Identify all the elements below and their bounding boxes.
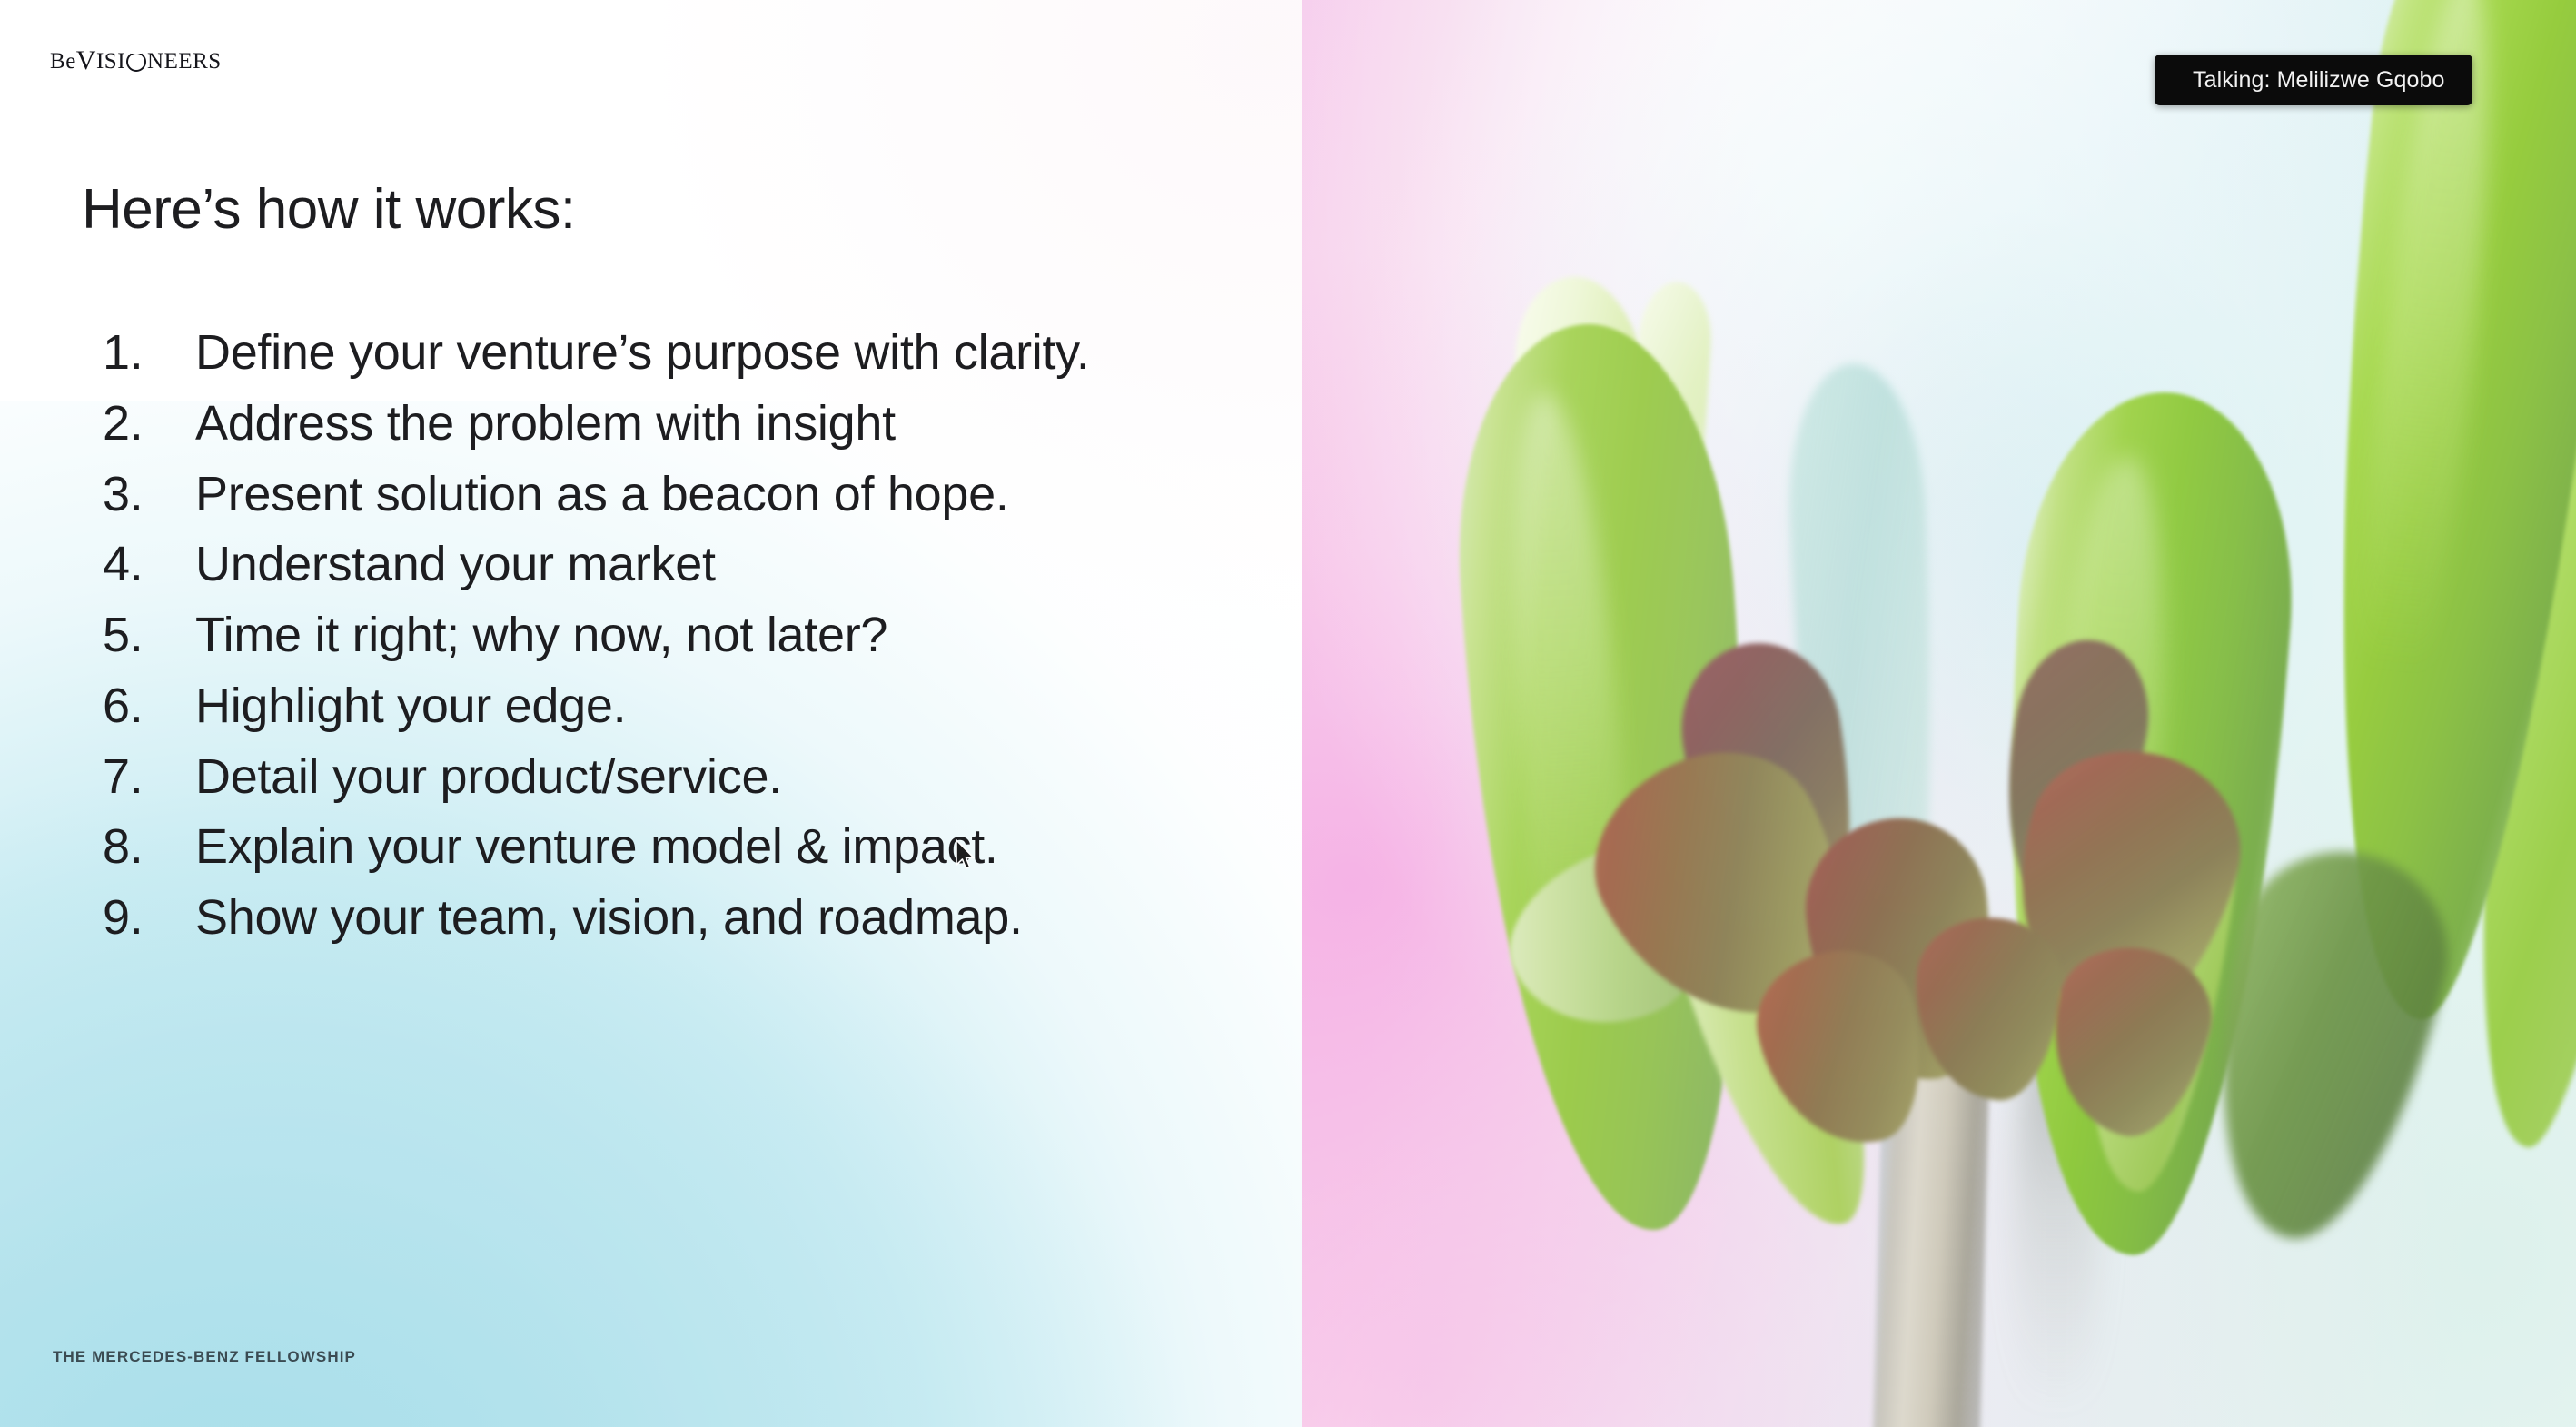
list-item-text: Define your venture’s purpose with clari… [195, 318, 1158, 389]
list-item: 4. Understand your market [95, 530, 1240, 600]
logo-text-v: V [76, 47, 96, 74]
logo-text-be: B [50, 50, 65, 73]
logo-text-e: e [65, 50, 76, 73]
list-item-text: Understand your market [195, 530, 1158, 600]
list-item-number: 8. [95, 812, 195, 883]
list-item-number: 6. [95, 671, 195, 742]
list-item-number: 5. [95, 600, 195, 671]
list-item: 8. Explain your venture model & impact. [95, 812, 1240, 883]
list-item-text: Present solution as a beacon of hope. [195, 460, 1158, 530]
slide-title: Here’s how it works: [82, 177, 576, 242]
presentation-slide[interactable]: BeVISINEERS Here’s how it works: 1. Defi… [0, 0, 1302, 1427]
plant-photo [1302, 0, 2576, 1427]
list-item-number: 7. [95, 742, 195, 813]
talking-badge: Talking: Melilizwe Gqobo [2155, 55, 2472, 105]
list-item: 1. Define your venture’s purpose with cl… [95, 318, 1240, 389]
list-item: 5. Time it right; why now, not later? [95, 600, 1240, 671]
list-item-text: Show your team, vision, and roadmap. [195, 883, 1158, 954]
video-panel[interactable] [1302, 0, 2576, 1427]
list-item-text: Explain your venture model & impact. [195, 812, 1158, 883]
bevisioneers-logo: BeVISINEERS [50, 45, 222, 76]
list-item-number: 1. [95, 318, 195, 389]
slide-footer-text: THE MERCEDES-BENZ FELLOWSHIP [53, 1348, 356, 1366]
talking-badge-label: Talking: Melilizwe Gqobo [2193, 67, 2445, 94]
screen: BeVISINEERS Here’s how it works: 1. Defi… [0, 0, 2576, 1427]
list-item: 7. Detail your product/service. [95, 742, 1240, 813]
list-item-text: Address the problem with insight [195, 389, 1158, 460]
list-item-number: 4. [95, 530, 195, 600]
logo-text-isi: ISI [96, 50, 125, 73]
list-item: 6. Highlight your edge. [95, 671, 1240, 742]
list-item-number: 9. [95, 883, 195, 954]
list-item: 9. Show your team, vision, and roadmap. [95, 883, 1240, 954]
plant-subject [1302, 0, 2576, 1427]
list-item-text: Highlight your edge. [195, 671, 1158, 742]
logo-text-neers: NEERS [147, 50, 222, 73]
slide-numbered-list: 1. Define your venture’s purpose with cl… [95, 318, 1240, 954]
list-item-text: Time it right; why now, not later? [195, 600, 1158, 671]
list-item-text: Detail your product/service. [195, 742, 1158, 813]
list-item-number: 3. [95, 460, 195, 530]
logo-circle-o-icon [126, 52, 146, 72]
list-item: 2. Address the problem with insight [95, 389, 1240, 460]
list-item: 3. Present solution as a beacon of hope. [95, 460, 1240, 530]
list-item-number: 2. [95, 389, 195, 460]
